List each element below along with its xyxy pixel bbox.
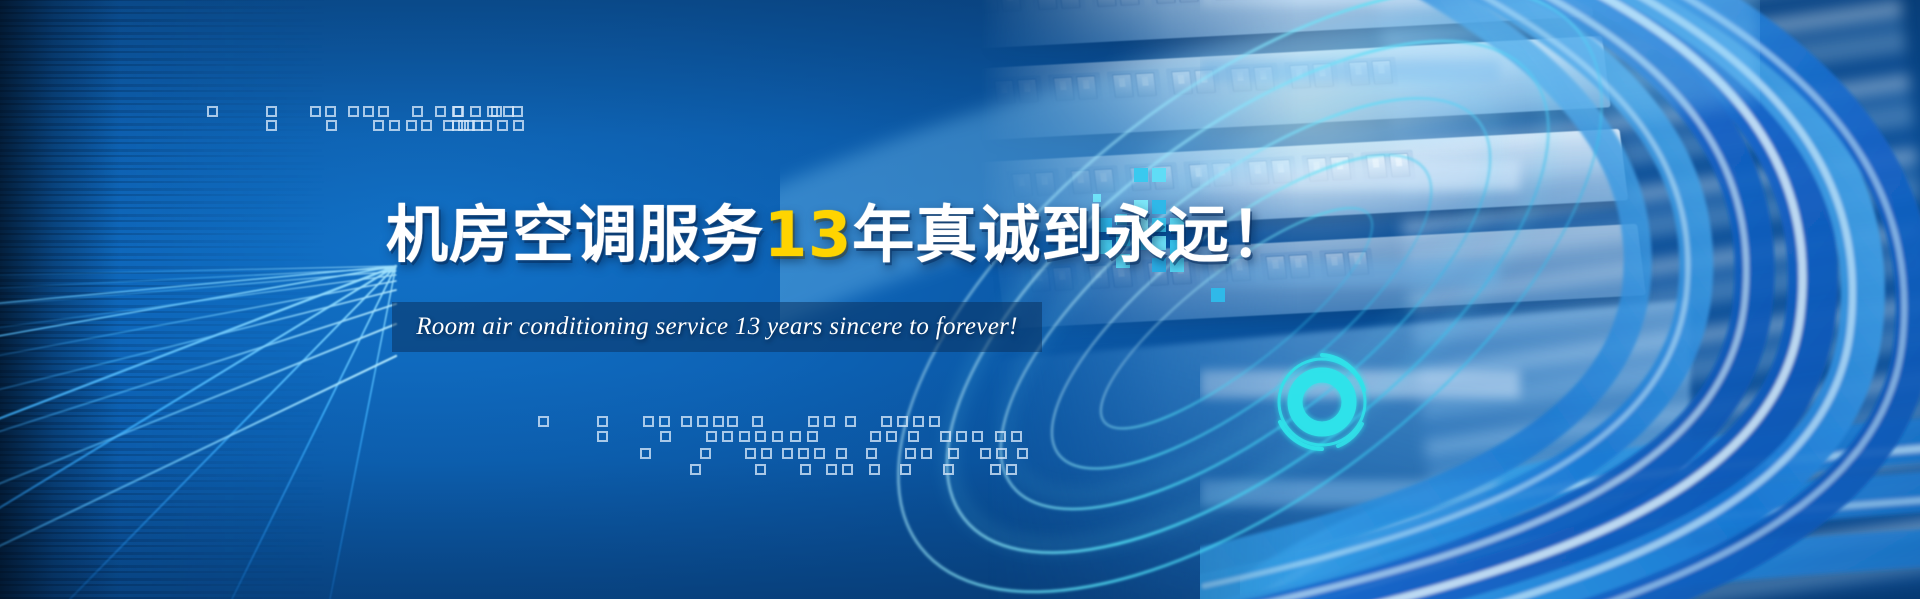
page-title: 机房空调服务13年真诚到永远！ [386,204,1293,266]
headline-part-one: 机房空调服务 [386,198,764,271]
subtitle-overlay-box: Room air conditioning service 13 years s… [392,302,1042,352]
headline-years-highlight: 13 [764,198,852,271]
hero-banner: 机房空调服务13年真诚到永远！ Room air conditioning se… [0,0,1920,599]
hud-ring-icon [1258,338,1386,466]
headline-part-two: 年真诚到永远！ [852,198,1293,271]
subtitle-text: Room air conditioning service 13 years s… [392,302,1042,352]
pixel-squares-bottom [0,0,1920,599]
